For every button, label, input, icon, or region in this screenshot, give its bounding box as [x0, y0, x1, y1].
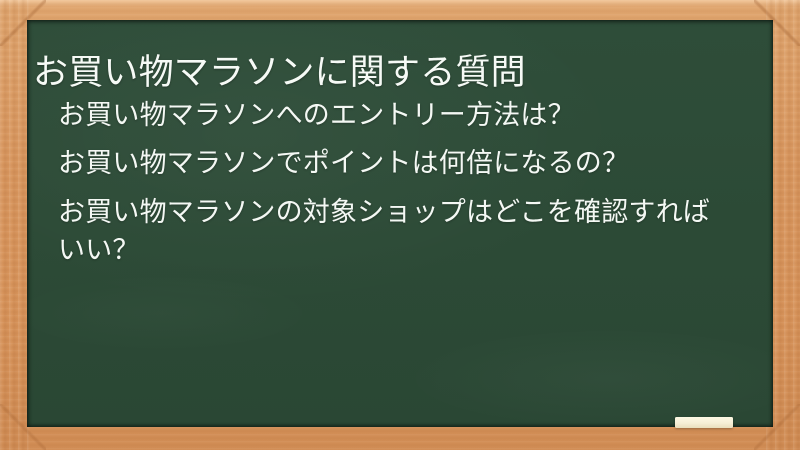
blackboard-frame: お買い物マラソンに関する質問 お買い物マラソンへのエントリー方法は？ お買い物マ…: [0, 0, 800, 450]
question-item: お買い物マラソンへのエントリー方法は？: [58, 96, 737, 134]
question-item: お買い物マラソンでポイントは何倍になるの？: [58, 144, 737, 182]
board-title: お買い物マラソンに関する質問: [33, 51, 755, 94]
chalk-stick: [675, 417, 733, 428]
frame-top-highlight: [0, 0, 800, 7]
frame-grain-left: [0, 0, 30, 450]
question-list: お買い物マラソンへのエントリー方法は？ お買い物マラソンでポイントは何倍になるの…: [58, 96, 737, 279]
chalkboard-surface: お買い物マラソンに関する質問 お買い物マラソンへのエントリー方法は？ お買い物マ…: [27, 20, 773, 427]
question-item: お買い物マラソンの対象ショップはどこを確認すればいい？: [58, 193, 737, 270]
